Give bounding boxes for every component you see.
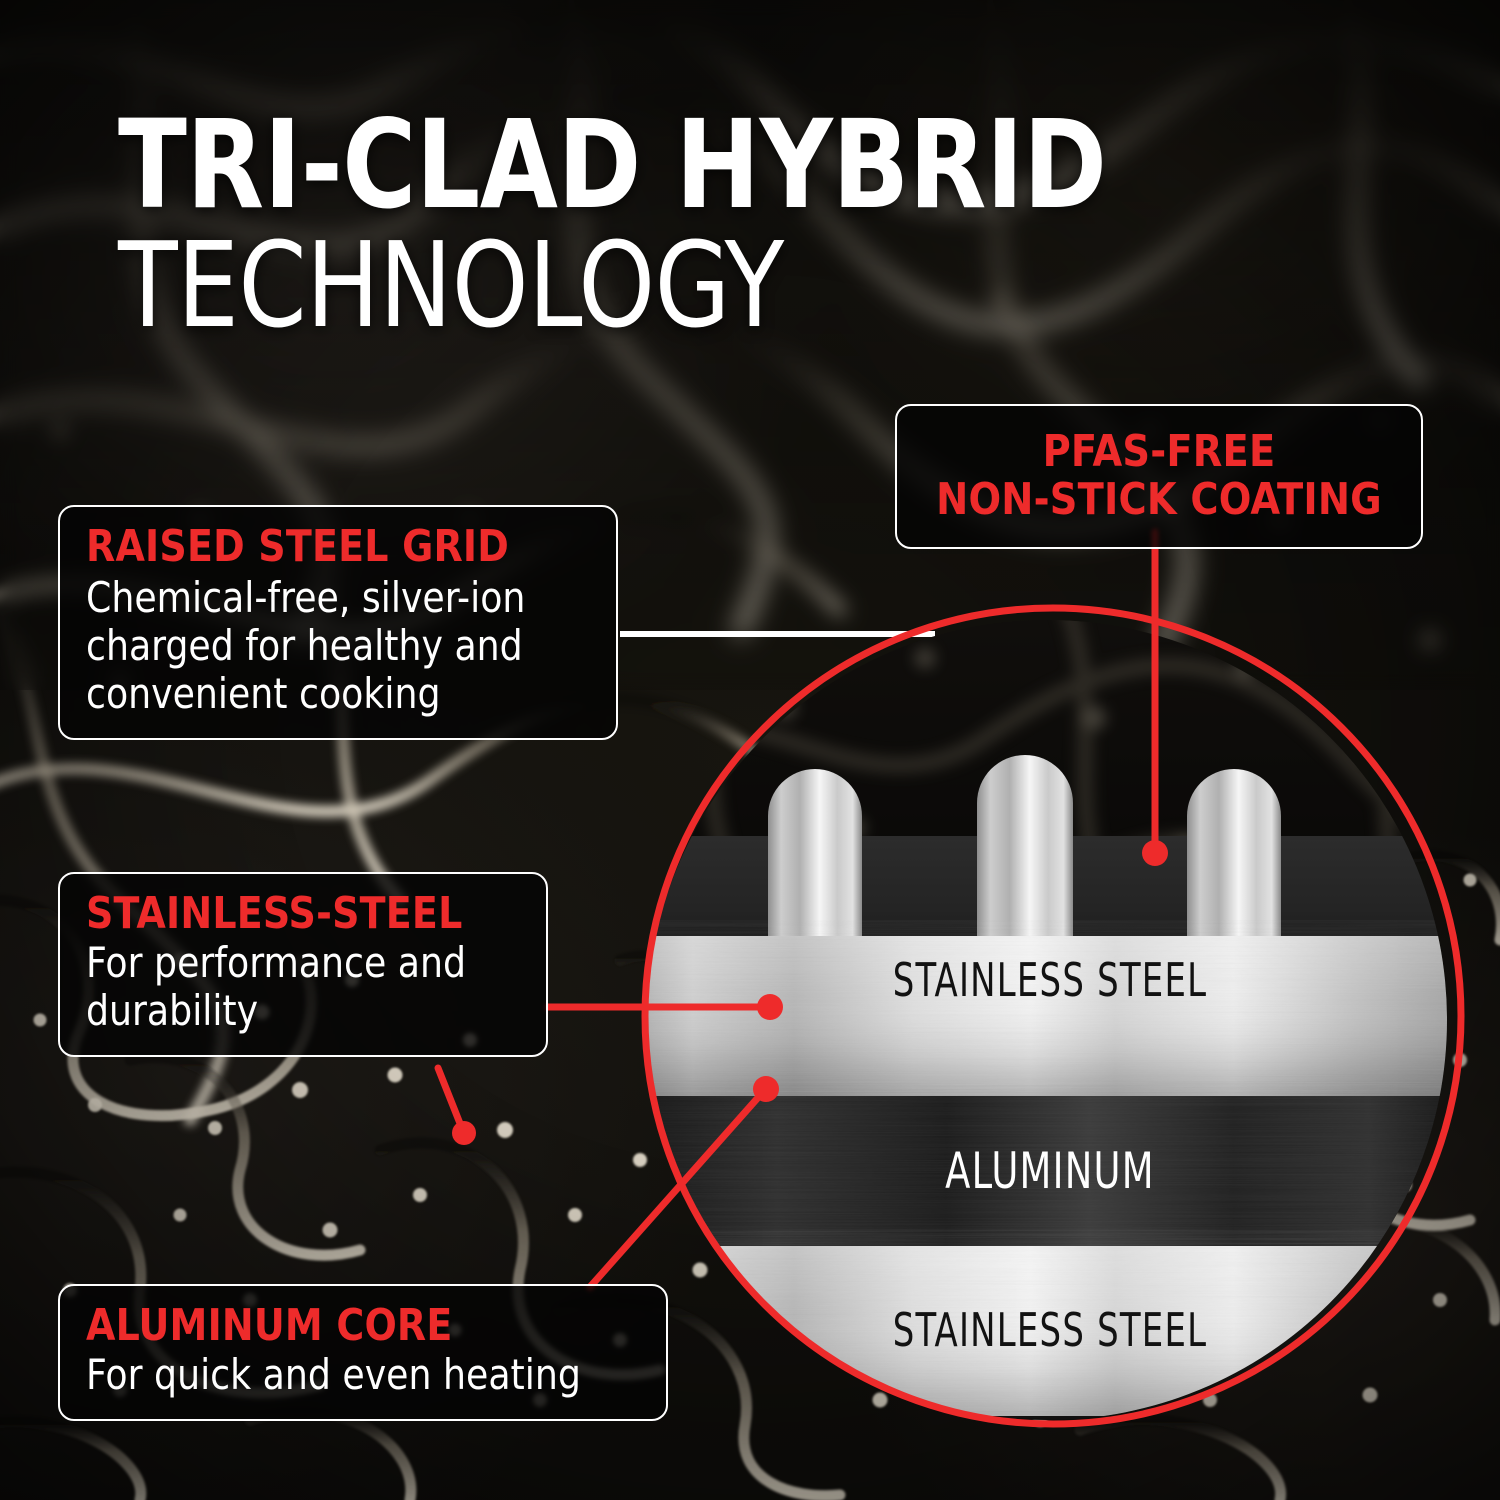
- layer-label-bottom-stainless: STAINLESS STEEL: [893, 1303, 1208, 1357]
- page-title: TRI-CLAD HYBRID TECHNOLOGY: [118, 108, 1192, 342]
- infographic-canvas: TRI-CLAD HYBRID TECHNOLOGY: [0, 0, 1500, 1500]
- callout-body-stainless-steel: For performance and durability: [86, 939, 505, 1035]
- layer-label-aluminum: ALUMINUM: [945, 1142, 1155, 1200]
- ridge-1: [768, 769, 862, 958]
- ridge-3: [1187, 769, 1281, 958]
- callout-heading-pfas-free-line-1: PFAS-FREE: [924, 428, 1393, 476]
- callout-body-aluminum-core: For quick and even heating: [86, 1351, 620, 1399]
- page-title-line-1: TRI-CLAD HYBRID: [118, 108, 1107, 223]
- page-title-line-2: TECHNOLOGY: [118, 229, 1107, 342]
- raised-steel-ridges: [768, 755, 1281, 958]
- callout-raised-steel-grid[interactable]: RAISED STEEL GRID Chemical-free, silver-…: [58, 505, 618, 740]
- callout-heading-stainless-steel: STAINLESS-STEEL: [86, 892, 505, 937]
- cross-section-diagram: STAINLESS STEEL ALUMINUM STAINLESS STEEL: [625, 598, 1470, 1443]
- callout-body-raised-steel-grid: Chemical-free, silver-ion charged for he…: [86, 574, 572, 718]
- callout-heading-raised-steel-grid: RAISED STEEL GRID: [86, 525, 572, 570]
- ridge-2: [977, 755, 1073, 958]
- callout-stainless-steel[interactable]: STAINLESS-STEEL For performance and dura…: [58, 872, 548, 1057]
- callout-pfas-free[interactable]: PFAS-FREE NON-STICK COATING: [895, 404, 1423, 549]
- callout-heading-pfas-free-line-2: NON-STICK COATING: [924, 476, 1393, 524]
- layer-label-top-stainless: STAINLESS STEEL: [893, 953, 1208, 1007]
- callout-heading-aluminum-core: ALUMINUM CORE: [86, 1304, 620, 1349]
- callout-aluminum-core[interactable]: ALUMINUM CORE For quick and even heating: [58, 1284, 668, 1421]
